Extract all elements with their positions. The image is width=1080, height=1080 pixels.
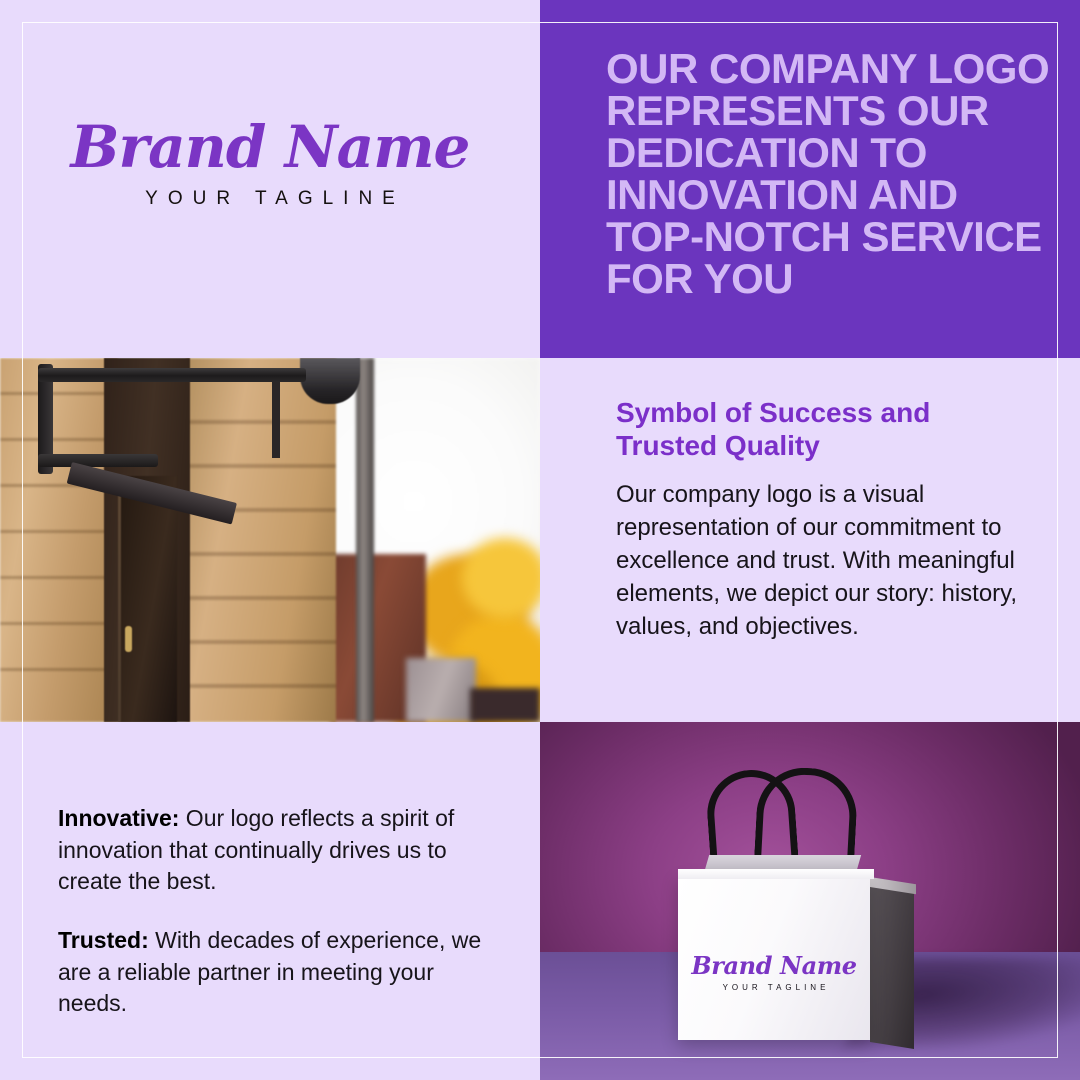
sign-bracket-arm [38, 368, 306, 382]
brand-tagline-text: YOUR TAGLINE [0, 188, 540, 210]
logo-panel: Brand Name YOUR TAGLINE [0, 0, 540, 358]
door-handle [125, 626, 132, 652]
about-panel: Symbol of Success and Trusted Quality Ou… [540, 358, 1080, 722]
feature-label: Innovative: [58, 805, 179, 831]
feature-item: Innovative: Our logo reflects a spirit o… [58, 803, 498, 898]
lamp-stem [272, 376, 280, 458]
street-pole [356, 358, 374, 722]
bag-side-panel [870, 884, 914, 1049]
about-heading: Symbol of Success and Trusted Quality [616, 396, 1036, 462]
brand-logo: Brand Name YOUR TAGLINE [0, 118, 540, 210]
features-panel: Innovative: Our logo reflects a spirit o… [0, 722, 540, 1080]
distant-building [406, 658, 476, 722]
tree-foliage-4 [462, 538, 540, 618]
sign-bracket-elbow [38, 454, 158, 467]
headline-panel: OUR COMPANY LOGO REPRESENTS OUR DEDICATI… [540, 0, 1080, 358]
door-panel [118, 476, 177, 722]
storefront-sign-photo: Brand Name YOUR TAGLINE [0, 358, 540, 722]
shop-awning [470, 688, 540, 722]
brand-poster: Brand Name YOUR TAGLINE OUR COMPANY LOGO… [0, 0, 1080, 1080]
shopping-bag-photo: Brand Name YOUR TAGLINE [540, 722, 1080, 1080]
feature-item: Trusted: With decades of experience, we … [58, 925, 498, 1020]
about-body-text: Our company logo is a visual representat… [616, 478, 1064, 644]
stone-wall-middle [186, 358, 336, 722]
feature-label: Trusted: [58, 927, 149, 953]
stone-wall-left [0, 358, 118, 722]
bag-top-lip [678, 869, 874, 879]
bag-brand-name: Brand Name [678, 954, 870, 978]
brand-name-text: Brand Name [0, 118, 540, 176]
bag-logo: Brand Name YOUR TAGLINE [678, 954, 870, 992]
bag-brand-tagline: YOUR TAGLINE [678, 983, 870, 992]
headline-text: OUR COMPANY LOGO REPRESENTS OUR DEDICATI… [606, 48, 1056, 300]
